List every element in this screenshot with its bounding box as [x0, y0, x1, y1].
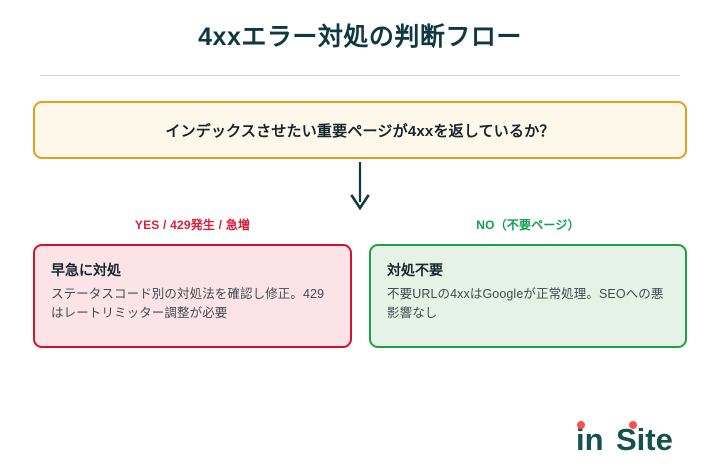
branch-label-no: NO（不要ページ）: [369, 217, 687, 233]
logo-dot-i-first: [577, 421, 585, 429]
outcome-card-no-action: 対処不要 不要URLの4xxはGoogleが正常処理。SEOへの悪影響なし: [369, 244, 687, 348]
outcome-heading: 早急に対処: [51, 260, 334, 280]
outcome-body: ステータスコード別の対処法を確認し修正。429はレートリミッター調整が必要: [51, 285, 334, 323]
outcome-card-urgent: 早急に対処 ステータスコード別の対処法を確認し修正。429はレートリミッター調整…: [33, 244, 352, 348]
decision-node: インデックスさせたい重要ページが4xxを返しているか？: [33, 101, 687, 159]
arrow-down-icon: [344, 162, 376, 210]
logo-dot-i-second: [629, 421, 637, 429]
slide-canvas: 4xxエラー対処の判断フロー インデックスさせたい重要ページが4xxを返している…: [0, 0, 720, 470]
logo-text-site: Site: [616, 422, 673, 457]
branch-label-yes: YES / 429発生 / 急増: [33, 217, 352, 233]
title-divider: [40, 75, 680, 76]
page-title: 4xxエラー対処の判断フロー: [0, 20, 720, 54]
outcome-body: 不要URLの4xxはGoogleが正常処理。SEOへの悪影響なし: [387, 285, 669, 323]
decision-question-text: インデックスさせたい重要ページが4xxを返しているか？: [165, 120, 554, 141]
outcome-heading: 対処不要: [387, 260, 669, 280]
insite-logo: in Site: [576, 419, 688, 457]
